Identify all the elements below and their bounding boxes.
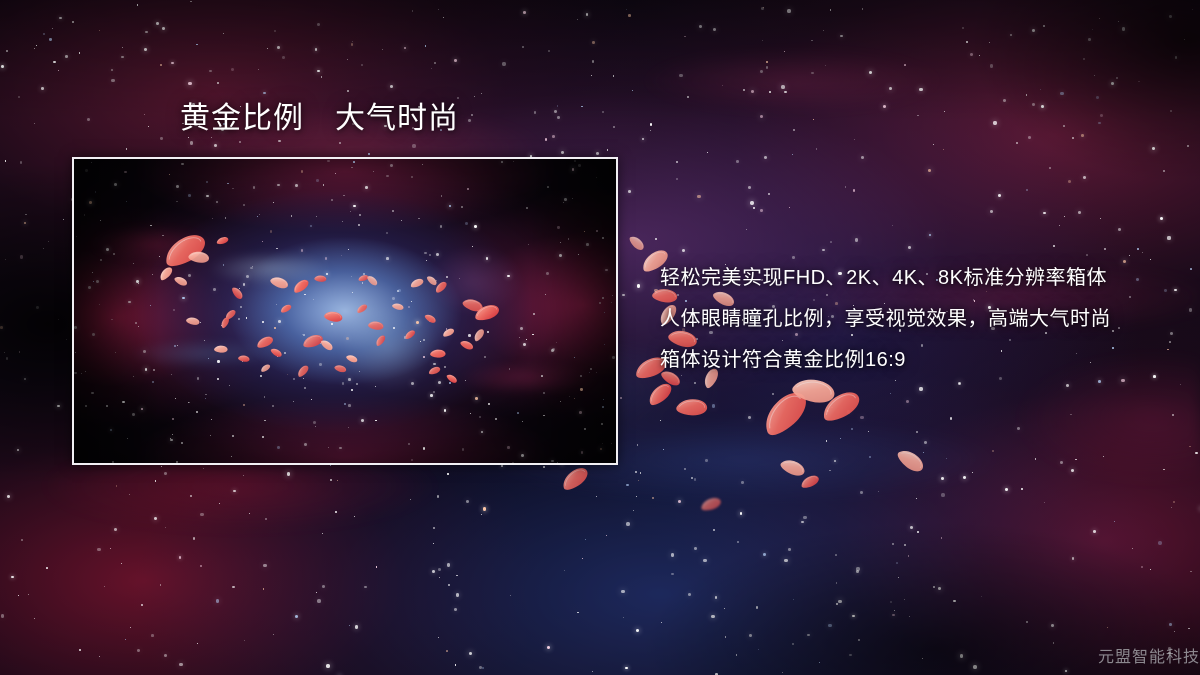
petal — [817, 386, 865, 425]
petal — [699, 496, 723, 512]
page-title: 黄金比例 大气时尚 — [180, 102, 459, 137]
body-line-3: 箱体设计符合黄金比例16:9 — [660, 340, 1111, 381]
watermark: 元盟智能科技 — [1098, 643, 1200, 667]
body-line-1: 轻松完美实现FHD、2K、4K、8K标准分辨率箱体 — [660, 258, 1111, 299]
preview-image — [74, 159, 616, 463]
body-line-2: 人体眼睛瞳孔比例，享受视觉效果，高端大气时尚 — [660, 299, 1111, 340]
petal — [644, 380, 676, 409]
petal — [675, 396, 709, 418]
petal — [778, 455, 808, 481]
petal — [628, 233, 647, 253]
body-copy: 轻松完美实现FHD、2K、4K、8K标准分辨率箱体 人体眼睛瞳孔比例，享受视觉效… — [660, 258, 1111, 381]
petal — [754, 385, 815, 442]
petal — [894, 444, 927, 477]
preview-frame[interactable] — [72, 157, 618, 465]
slide-canvas: 黄金比例 大气时尚 轻松完美实现FHD、2K、4K、8K标准分辨率箱体 人体眼睛… — [0, 0, 1200, 675]
preview-vignette — [74, 159, 616, 463]
petal — [558, 464, 592, 494]
petal — [799, 473, 821, 490]
